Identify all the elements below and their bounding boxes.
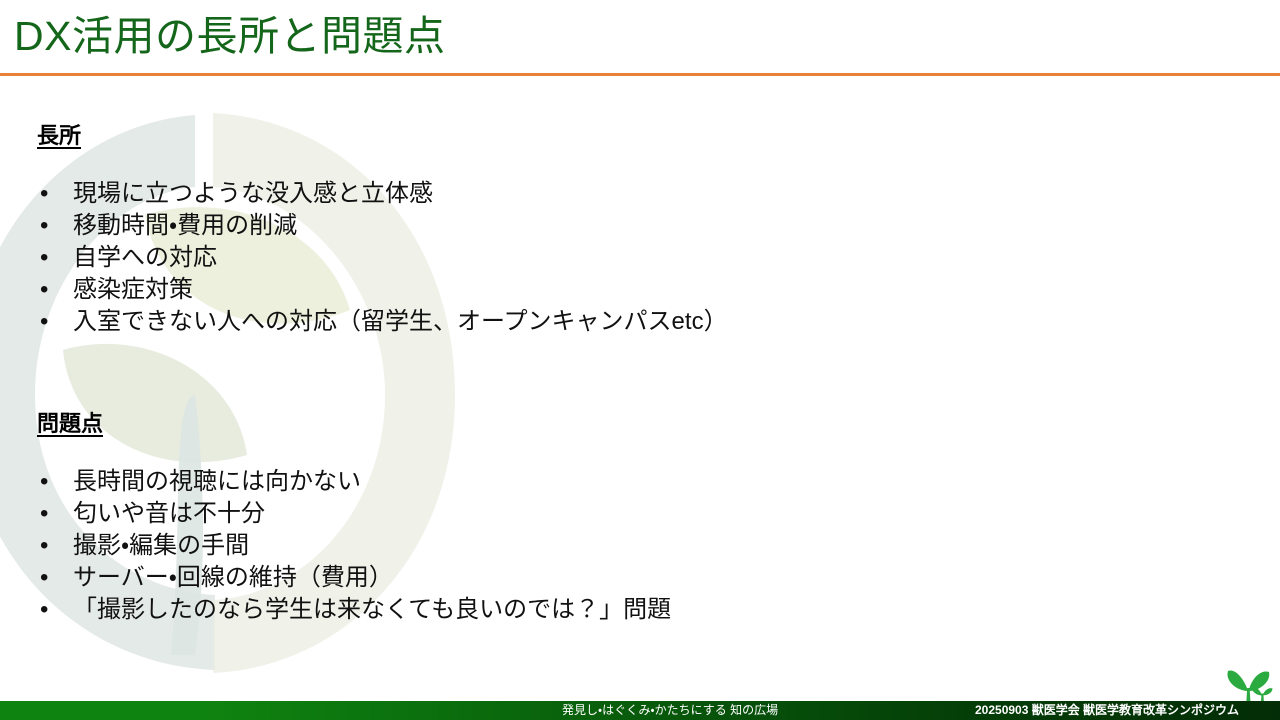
list-item-label: サーバー・回線の維持（費用）: [73, 564, 393, 591]
bullet-dot-icon: •: [40, 594, 48, 626]
bullet-dot-icon: •: [40, 466, 48, 498]
list-item: • 撮影・編集の手間: [37, 530, 671, 562]
list-item-label: 長時間の視聴には向かない: [73, 468, 361, 495]
slide-canvas: DX活用の長所と問題点 長所 • 現場に立つような没入感と立体感 • 移動時間・…: [0, 0, 1280, 720]
list-item-label: 自学への対応: [73, 244, 217, 271]
list-item: • 感染症対策: [37, 274, 728, 306]
list-item-label: 入室できない人への対応（留学生、オープンキャンパスetc）: [73, 308, 728, 335]
bullet-dot-icon: •: [40, 210, 48, 242]
list-item-label: 感染症対策: [73, 276, 193, 303]
list-item-label: 「撮影したのなら学生は来なくても良いのでは？」問題: [73, 596, 671, 623]
bullet-dot-icon: •: [40, 178, 48, 210]
list-item: • 移動時間・費用の削減: [37, 210, 728, 242]
bullet-dot-icon: •: [40, 562, 48, 594]
bullet-dot-icon: •: [40, 242, 48, 274]
section-heading-problems: 問題点: [37, 406, 103, 438]
sprout-logo-icon: [1224, 661, 1274, 701]
list-item: • サーバー・回線の維持（費用）: [37, 562, 671, 594]
list-item: • 自学への対応: [37, 242, 728, 274]
list-item-label: 現場に立つような没入感と立体感: [73, 180, 433, 207]
bullet-list-merits: • 現場に立つような没入感と立体感 • 移動時間・費用の削減 • 自学への対応 …: [37, 178, 728, 338]
sprout-logo-shapes: [1227, 671, 1272, 701]
list-item-label: 撮影・編集の手間: [73, 532, 249, 559]
bullet-dot-icon: •: [40, 530, 48, 562]
bullet-list-problems: • 長時間の視聴には向かない • 匂いや音は不十分 • 撮影・編集の手間 • サ…: [37, 466, 671, 626]
section-heading-merits: 長所: [37, 118, 81, 150]
bullet-dot-icon: •: [40, 498, 48, 530]
list-item-label: 匂いや音は不十分: [73, 500, 265, 527]
list-item-label: 移動時間・費用の削減: [73, 212, 297, 239]
footer-event-label: 20250903 獣医学会 獣医学教育改革シンポジウム: [975, 702, 1239, 719]
bullet-dot-icon: •: [40, 306, 48, 338]
footer-tagline: 発見し・はぐくみ・かたちにする 知の広場: [562, 702, 778, 719]
list-item: • 長時間の視聴には向かない: [37, 466, 671, 498]
list-item: • 匂いや音は不十分: [37, 498, 671, 530]
list-item: • 現場に立つような没入感と立体感: [37, 178, 728, 210]
slide-content: 長所 • 現場に立つような没入感と立体感 • 移動時間・費用の削減 • 自学への…: [0, 0, 1280, 690]
list-item: • 「撮影したのなら学生は来なくても良いのでは？」問題: [37, 594, 671, 626]
bullet-dot-icon: •: [40, 274, 48, 306]
list-item: • 入室できない人への対応（留学生、オープンキャンパスetc）: [37, 306, 728, 338]
